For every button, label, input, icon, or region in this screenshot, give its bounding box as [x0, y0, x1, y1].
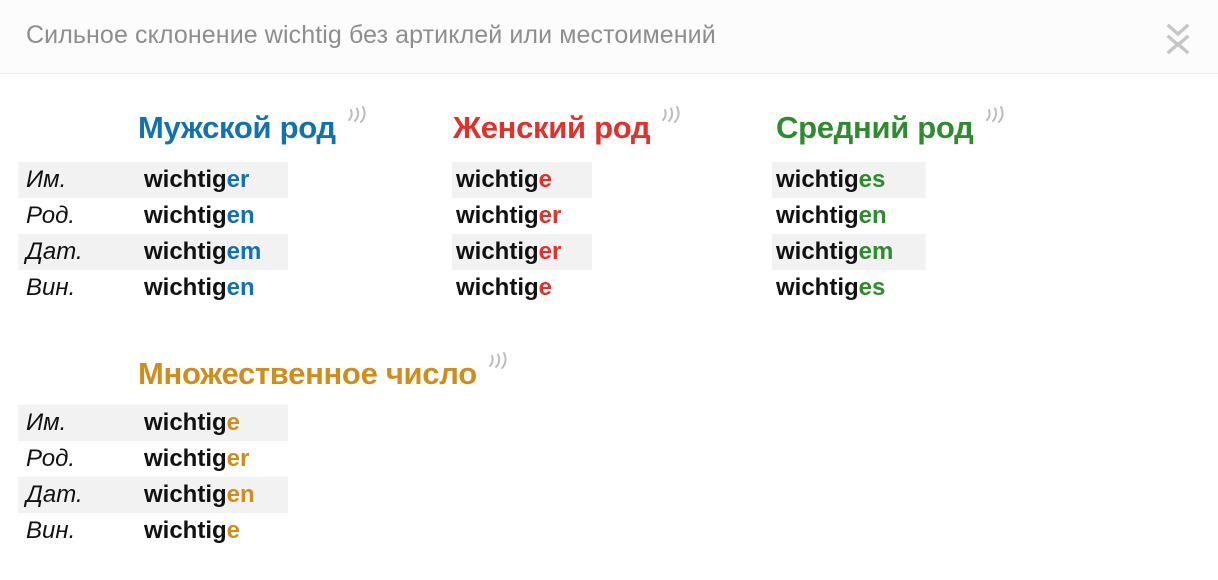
word-stem: wichtig — [456, 238, 539, 265]
word-stem: wichtig — [456, 274, 539, 301]
word-form-neuter: wichtigem — [776, 238, 893, 266]
word-ending: es — [859, 274, 886, 301]
word-stem: wichtig — [144, 238, 227, 265]
table-row: Им. wichtige — [0, 405, 1218, 441]
word-stem: wichtig — [144, 274, 227, 301]
word-form-feminine: wichtiger — [456, 238, 561, 266]
word-form-feminine: wichtiger — [456, 202, 561, 230]
word-stem: wichtig — [776, 238, 859, 265]
word-stem: wichtig — [144, 166, 227, 193]
heading-masculine: Мужской род — [138, 106, 367, 143]
heading-masculine-label: Мужской род — [138, 110, 336, 145]
heading-feminine: Женский род — [453, 106, 681, 143]
cell-masculine-accusative: Вин. wichtigen — [18, 270, 288, 306]
word-ending: em — [227, 238, 262, 265]
cell-feminine-accusative: wichtige — [452, 270, 592, 306]
table-row: Род. wichtigen wichtiger wichtigen — [0, 198, 1218, 234]
word-stem: wichtig — [144, 409, 227, 436]
word-ending: er — [539, 238, 562, 265]
heading-feminine-label: Женский род — [453, 110, 650, 145]
word-stem: wichtig — [776, 274, 859, 301]
word-ending: en — [227, 202, 255, 229]
cell-plural-accusative: Вин. wichtige — [18, 513, 288, 549]
word-ending: er — [227, 166, 250, 193]
word-form-neuter: wichtiges — [776, 274, 885, 302]
plural-declension-table: Им. wichtige Род. wichtiger Дат. wichtig… — [0, 405, 1218, 549]
word-ending: e — [539, 166, 552, 193]
case-label: Дат. — [26, 238, 144, 266]
cell-masculine-dative: Дат. wichtigem — [18, 234, 288, 270]
word-ending: e — [227, 409, 240, 436]
word-form-feminine: wichtige — [456, 274, 552, 302]
table-row: Вин. wichtigen wichtige wichtiges — [0, 270, 1218, 306]
word-ending: en — [859, 202, 887, 229]
table-row: Дат. wichtigen — [0, 477, 1218, 513]
word-ending: er — [539, 202, 562, 229]
word-ending: er — [227, 445, 250, 472]
case-label: Род. — [26, 445, 144, 473]
word-stem: wichtig — [776, 202, 859, 229]
heading-plural: Множественное число — [138, 352, 508, 389]
table-row: Вин. wichtige — [0, 513, 1218, 549]
case-label: Им. — [26, 166, 144, 194]
word-form-plural: wichtige — [144, 409, 240, 437]
case-label: Род. — [26, 202, 144, 230]
cell-plural-nominative: Им. wichtige — [18, 405, 288, 441]
word-form-masculine: wichtigem — [144, 238, 261, 266]
heading-plural-label: Множественное число — [138, 356, 477, 391]
cell-feminine-genitive: wichtiger — [452, 198, 592, 234]
word-stem: wichtig — [144, 202, 227, 229]
cell-neuter-genitive: wichtigen — [772, 198, 926, 234]
declension-panel: Сильное склонение wichtig без артиклей и… — [0, 0, 1218, 580]
word-form-plural: wichtiger — [144, 445, 249, 473]
speaker-sound-icon[interactable] — [345, 106, 367, 126]
speaker-sound-icon[interactable] — [486, 352, 508, 372]
double-chevron-down-icon[interactable] — [1156, 16, 1200, 60]
cell-plural-dative: Дат. wichtigen — [18, 477, 288, 513]
singular-declension-table: Им. wichtiger wichtige wichtiges Род. wi… — [0, 162, 1218, 306]
case-label: Дат. — [26, 481, 144, 509]
case-label: Вин. — [26, 517, 144, 545]
word-form-masculine: wichtigen — [144, 202, 255, 230]
cell-neuter-dative: wichtigem — [772, 234, 926, 270]
table-row: Им. wichtiger wichtige wichtiges — [0, 162, 1218, 198]
cell-neuter-nominative: wichtiges — [772, 162, 926, 198]
word-stem: wichtig — [776, 166, 859, 193]
cell-masculine-nominative: Им. wichtiger — [18, 162, 288, 198]
page-title: Сильное склонение wichtig без артиклей и… — [26, 21, 716, 50]
word-ending: es — [859, 166, 886, 193]
word-form-masculine: wichtiger — [144, 166, 249, 194]
word-form-neuter: wichtigen — [776, 202, 887, 230]
cell-feminine-dative: wichtiger — [452, 234, 592, 270]
case-label: Им. — [26, 409, 144, 437]
word-stem: wichtig — [456, 166, 539, 193]
word-stem: wichtig — [144, 517, 227, 544]
word-ending: en — [227, 481, 255, 508]
speaker-sound-icon[interactable] — [659, 106, 681, 126]
word-ending: e — [539, 274, 552, 301]
panel-header: Сильное склонение wichtig без артиклей и… — [0, 0, 1218, 74]
word-form-neuter: wichtiges — [776, 166, 885, 194]
word-stem: wichtig — [456, 202, 539, 229]
table-row: Дат. wichtigem wichtiger wichtigem — [0, 234, 1218, 270]
cell-plural-genitive: Род. wichtiger — [18, 441, 288, 477]
heading-neuter: Средний род — [776, 106, 1005, 143]
word-ending: en — [227, 274, 255, 301]
table-row: Род. wichtiger — [0, 441, 1218, 477]
word-ending: em — [859, 238, 894, 265]
word-form-masculine: wichtigen — [144, 274, 255, 302]
word-ending: e — [227, 517, 240, 544]
heading-neuter-label: Средний род — [776, 110, 974, 145]
speaker-sound-icon[interactable] — [983, 106, 1005, 126]
case-label: Вин. — [26, 274, 144, 302]
cell-neuter-accusative: wichtiges — [772, 270, 926, 306]
cell-feminine-nominative: wichtige — [452, 162, 592, 198]
cell-masculine-genitive: Род. wichtigen — [18, 198, 288, 234]
word-form-plural: wichtigen — [144, 481, 255, 509]
word-stem: wichtig — [144, 445, 227, 472]
word-form-feminine: wichtige — [456, 166, 552, 194]
word-stem: wichtig — [144, 481, 227, 508]
word-form-plural: wichtige — [144, 517, 240, 545]
